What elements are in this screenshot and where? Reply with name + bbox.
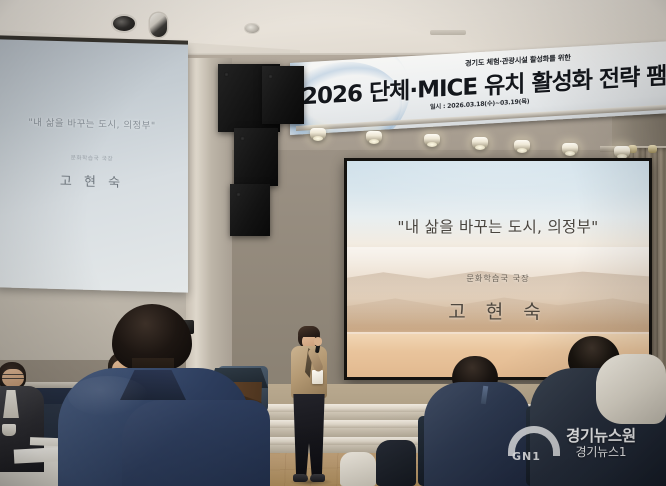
stage-spotlight-icon xyxy=(310,128,326,141)
ceiling-sensor-icon xyxy=(245,24,259,33)
gn1-logo-text: GN1 xyxy=(512,450,541,463)
presenter-shoe xyxy=(310,474,325,482)
presenter-shoe xyxy=(293,474,308,482)
loudspeaker-stack xyxy=(262,66,304,124)
stage-spotlight-icon xyxy=(562,143,578,156)
news-watermark: GN1 경기뉴스원 경기뉴스1 xyxy=(508,424,636,464)
ceiling-vent xyxy=(430,30,466,35)
ceiling-dome-camera-icon xyxy=(113,16,135,31)
stage-spotlight-icon xyxy=(514,140,530,153)
white-hood xyxy=(596,354,666,424)
stage-spotlight-icon xyxy=(366,131,382,144)
presenter-name-badge xyxy=(312,370,323,384)
presenter-hair-front xyxy=(298,326,320,337)
slide-speaker-name: 고 현 숙 xyxy=(347,297,649,324)
watermark-outlet-name: 경기뉴스원 xyxy=(566,428,636,446)
eyeglasses-icon xyxy=(2,374,24,379)
loudspeaker-stack xyxy=(230,184,270,236)
left-projection-screen: "내 삶을 바꾸는 도시, 의정부" 문화학습국 국장 고 현 숙 xyxy=(0,39,188,292)
ceiling-projector-icon xyxy=(150,13,167,37)
loudspeaker-stack xyxy=(234,128,278,186)
slide-quote: "내 삶을 바꾸는 도시, 의정부" xyxy=(347,215,649,237)
left-slide-role: 문화학습국 국장 xyxy=(0,151,188,164)
female-presenter xyxy=(286,326,332,486)
left-slide-quote: "내 삶을 바꾸는 도시, 의정부" xyxy=(0,113,188,132)
paper-cup xyxy=(2,424,16,436)
presenter-trousers xyxy=(292,394,326,476)
stage-spotlight-icon xyxy=(424,134,440,147)
white-bag xyxy=(340,452,376,486)
stage-spotlight-icon xyxy=(472,137,488,150)
photo-canvas: 경기도 체험·관광시설 활성화를 위한 2026 단체·MICE 유치 활성화 … xyxy=(0,0,666,486)
left-slide-speaker-name: 고 현 숙 xyxy=(0,168,188,192)
dark-bag xyxy=(376,440,416,486)
puffer-jacket-on-chair xyxy=(122,400,270,486)
gn1-logo-icon: GN1 xyxy=(508,424,560,464)
curtain-hook xyxy=(648,145,657,153)
watermark-outlet-sub: 경기뉴스1 xyxy=(566,446,636,460)
presenter-hand xyxy=(314,337,322,346)
slide-role: 문화학습국 국장 xyxy=(347,272,649,284)
